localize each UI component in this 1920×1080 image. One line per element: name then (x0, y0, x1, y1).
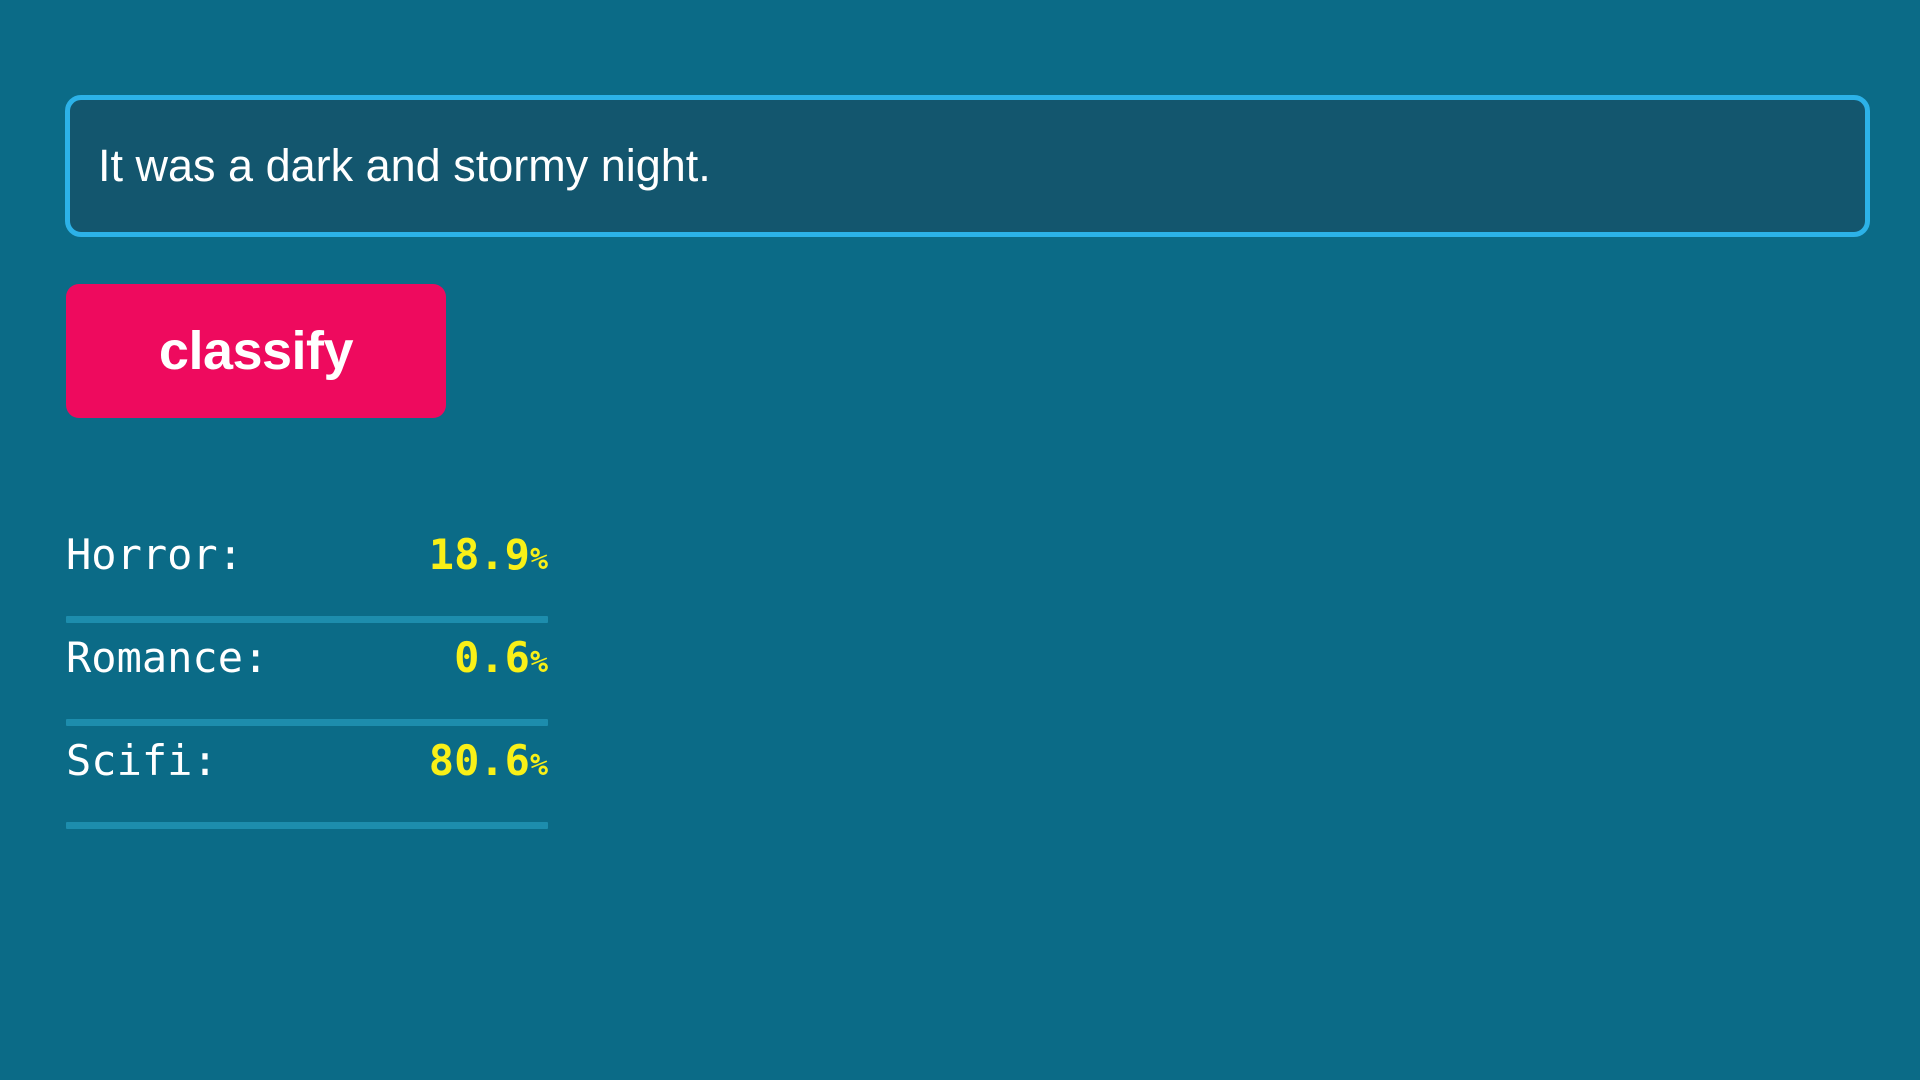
result-row-romance: Romance: 0.6% (66, 623, 548, 719)
result-value: 18.9% (429, 534, 548, 576)
result-label: Horror: (66, 534, 243, 576)
result-number: 18.9 (429, 530, 530, 579)
result-row-scifi: Scifi: 80.6% (66, 726, 548, 822)
result-divider (66, 822, 548, 829)
text-input[interactable] (65, 95, 1870, 237)
result-row-horror: Horror: 18.9% (66, 520, 548, 616)
percent-sign: % (530, 748, 548, 783)
result-divider (66, 719, 548, 726)
result-number: 80.6 (429, 736, 530, 785)
result-number: 0.6 (454, 633, 530, 682)
classifier-app: classify Horror: 18.9% Romance: 0.6% Sci… (0, 0, 1920, 1080)
result-value: 80.6% (429, 740, 548, 782)
text-input-wrapper (65, 95, 1870, 237)
result-label: Scifi: (66, 740, 218, 782)
percent-sign: % (530, 645, 548, 680)
classify-button[interactable]: classify (66, 284, 446, 418)
result-label: Romance: (66, 637, 268, 679)
results-list: Horror: 18.9% Romance: 0.6% Scifi: 80.6% (66, 520, 548, 829)
result-divider (66, 616, 548, 623)
result-value: 0.6% (454, 637, 548, 679)
percent-sign: % (530, 542, 548, 577)
